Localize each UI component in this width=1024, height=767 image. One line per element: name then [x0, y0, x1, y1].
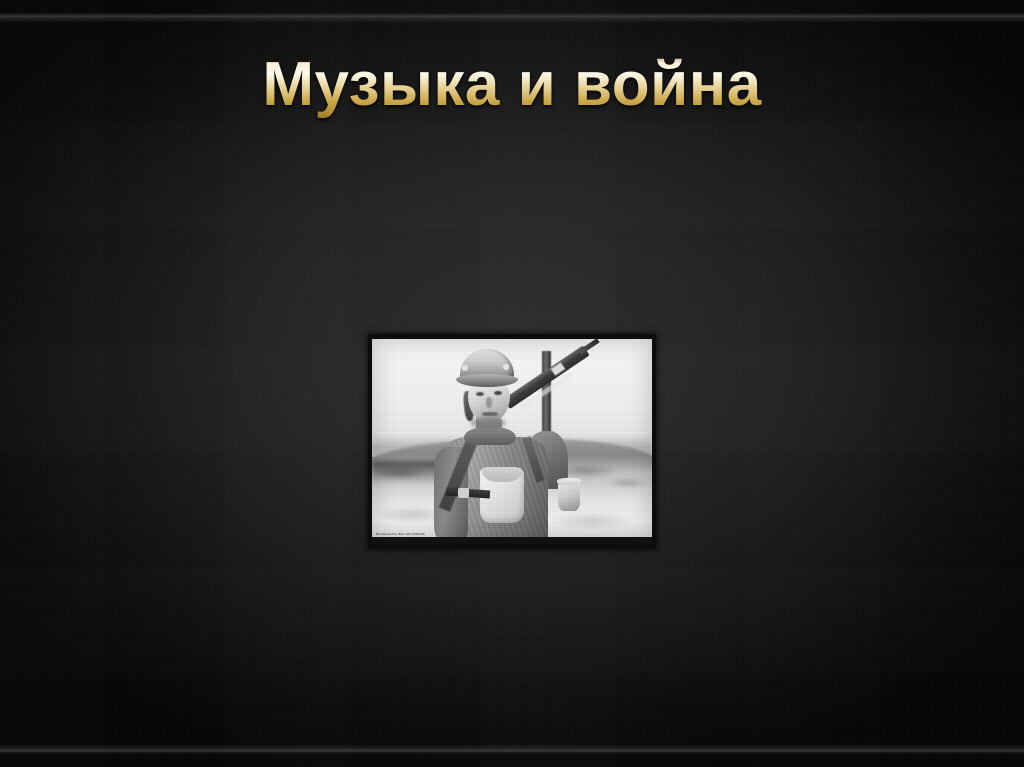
steel-helmet-lug-left: [462, 365, 468, 371]
watermark-line-1: Bundesarchiv, Bild 101I-R09106: [376, 532, 496, 536]
soldier-nose: [486, 397, 492, 408]
soldier-eye-left: [476, 392, 484, 396]
top-edge-rule: [0, 12, 1024, 23]
slide-title: Музыка и война: [0, 52, 1024, 119]
bottom-edge-rule: [0, 744, 1024, 755]
soldier-figure: [372, 339, 652, 544]
soldier-chin-shadow: [470, 417, 506, 429]
watermark-line-2: Foto: o.Ang. | 1917: [376, 537, 496, 541]
soldier-eye-right: [494, 391, 502, 395]
rifle-muzzle: [579, 339, 600, 355]
soldier-canteen-lid: [557, 478, 581, 485]
soldier-canteen: [558, 481, 580, 511]
soldier-mouth: [482, 412, 498, 416]
soldier-belt-buckle: [458, 488, 469, 498]
soldier-photograph: Bundesarchiv, Bild 101I-R09106 Foto: o.A…: [372, 339, 652, 544]
photo-frame: Bundesarchiv, Bild 101I-R09106 Foto: o.A…: [368, 334, 656, 549]
steel-helmet-brim: [456, 374, 518, 387]
photo-archive-watermark: Bundesarchiv, Bild 101I-R09106 Foto: o.A…: [374, 529, 496, 543]
presentation-slide: Музыка и война: [0, 0, 1024, 767]
steel-helmet-lug-right: [503, 364, 509, 370]
